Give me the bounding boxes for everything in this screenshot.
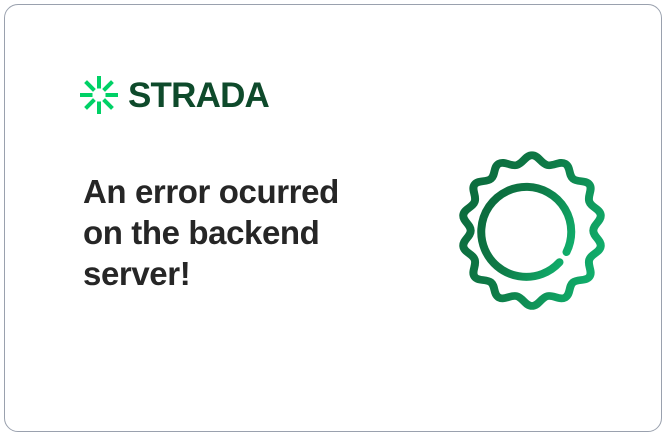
gear-illustration (449, 144, 615, 310)
error-message: An error ocurred on the backend server! (83, 171, 383, 294)
error-card: STRADA An error ocurred on the backend s… (4, 4, 662, 432)
gear-icon (449, 144, 615, 310)
brand-name: STRADA (128, 78, 269, 113)
error-screen: STRADA An error ocurred on the backend s… (0, 0, 666, 436)
strada-asterisk-icon (79, 75, 119, 115)
brand-logo: STRADA (79, 73, 269, 117)
